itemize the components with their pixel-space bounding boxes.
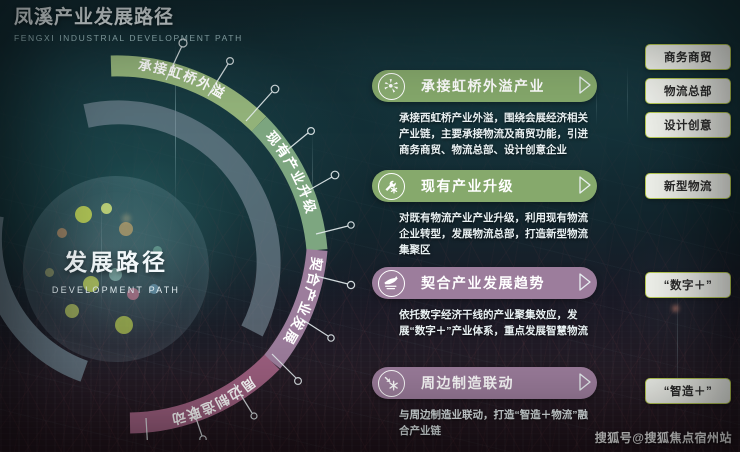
path-card-2-arrow-icon xyxy=(578,176,592,199)
ring-label-1: 现有产业升级 xyxy=(263,128,320,216)
tag-5[interactable]: “智造＋” xyxy=(645,378,731,404)
path-card-3-arrow-icon xyxy=(578,273,592,296)
tag-3-label: 新型物流 xyxy=(664,178,712,194)
path-card-1-arrow-icon xyxy=(578,76,592,99)
path-card-3-desc: 依托数字经济干线的产业聚集效应，发展“数字＋”产业体系，重点发展智慧物流 xyxy=(399,307,597,339)
center-label-group: 发展路径 DEVELOPMENT PATH xyxy=(23,176,209,362)
tag-3[interactable]: 新型物流 xyxy=(645,173,731,199)
tag-0[interactable]: 商务商贸 xyxy=(645,44,731,70)
background-particle xyxy=(672,305,679,312)
tag-2-label: 设计创意 xyxy=(664,117,712,133)
center-label-cn: 发展路径 xyxy=(64,243,168,277)
tag-4-label: “数字＋” xyxy=(664,277,713,293)
path-card-4[interactable]: 周边制造联动 与周边制造业联动，打造“智造＋物流”融合产业链 xyxy=(372,367,597,439)
path-card-1-pill[interactable]: 承接虹桥外溢产业 xyxy=(372,70,597,102)
converge-arrow-icon xyxy=(378,370,405,397)
path-card-4-title: 周边制造联动 xyxy=(421,373,514,393)
path-card-4-arrow-icon xyxy=(578,373,592,396)
development-path-ring: 承接虹桥外溢 现有产业升级 契合产业发展 周边制造联动 xyxy=(0,28,360,440)
path-card-1-title: 承接虹桥外溢产业 xyxy=(421,76,545,96)
path-card-3-pill[interactable]: 契合产业发展趋势 xyxy=(372,267,597,299)
path-card-2-pill[interactable]: 现有产业升级 xyxy=(372,170,597,202)
infographic-canvas: 凤溪产业发展路径 FENGXI INDUSTRIAL DEVELOPMENT P… xyxy=(0,0,740,452)
wrench-icon xyxy=(378,173,405,200)
tag-0-label: 商务商贸 xyxy=(664,49,712,65)
path-card-2-desc: 对既有物流产业产业升级，利用现有物流企业转型，发展物流总部，打造新型物流集聚区 xyxy=(399,210,597,258)
path-card-2[interactable]: 现有产业升级 对既有物流产业产业升级，利用现有物流企业转型，发展物流总部，打造新… xyxy=(372,170,597,258)
path-card-2-title: 现有产业升级 xyxy=(421,176,514,196)
path-card-1[interactable]: 承接虹桥外溢产业 承接西虹桥产业外溢，围绕会展经济相关产业链，主要承接物流及商贸… xyxy=(372,70,597,158)
rocket-icon xyxy=(378,270,405,297)
center-label-en: DEVELOPMENT PATH xyxy=(52,285,180,295)
tag-1[interactable]: 物流总部 xyxy=(645,78,731,104)
burst-icon xyxy=(378,73,405,100)
tag-5-label: “智造＋” xyxy=(664,383,713,399)
path-card-1-desc: 承接西虹桥产业外溢，围绕会展经济相关产业链，主要承接物流及商贸功能，引进商务商贸… xyxy=(399,110,597,158)
tag-4[interactable]: “数字＋” xyxy=(645,272,731,298)
light-streak xyxy=(627,66,628,126)
path-card-4-desc: 与周边制造业联动，打造“智造＋物流”融合产业链 xyxy=(399,407,597,439)
path-card-3-title: 契合产业发展趋势 xyxy=(421,273,545,293)
path-card-4-pill[interactable]: 周边制造联动 xyxy=(372,367,597,399)
path-card-3[interactable]: 契合产业发展趋势 依托数字经济干线的产业聚集效应，发展“数字＋”产业体系，重点发… xyxy=(372,267,597,339)
watermark: 搜狐号@搜狐焦点宿州站 xyxy=(595,429,732,446)
tag-1-label: 物流总部 xyxy=(664,83,712,99)
page-title: 凤溪产业发展路径 xyxy=(14,6,243,30)
tag-2[interactable]: 设计创意 xyxy=(645,112,731,138)
